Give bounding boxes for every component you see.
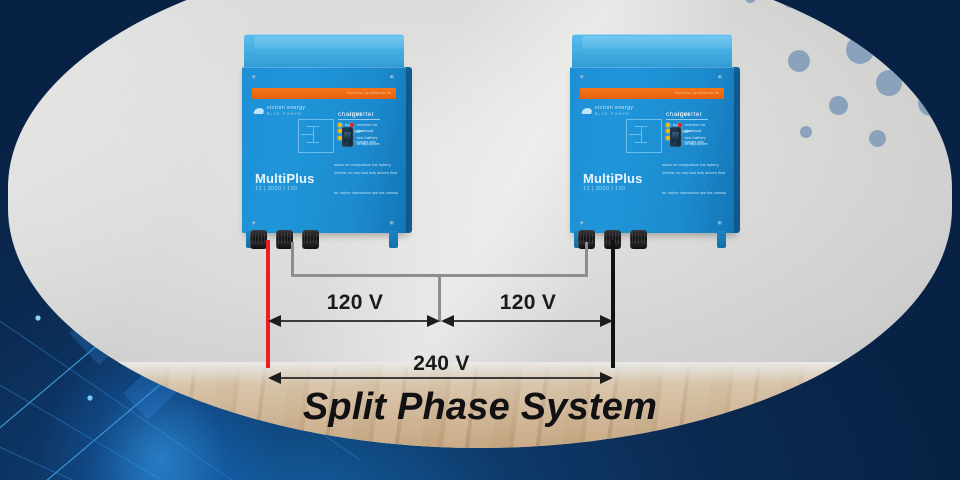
- screw-icon: [718, 75, 722, 79]
- page-title: Split Phase System: [0, 386, 960, 429]
- inverter-right-brand: victron energy BLUE POWER: [582, 105, 633, 116]
- arrow-line-right-leg: [450, 320, 605, 322]
- arrow-head-left: [268, 372, 281, 384]
- circle-pattern-decoration: [722, 0, 952, 163]
- inverter-right-model-sub: 12 | 3000 | 120: [583, 186, 626, 192]
- arrow-head-left: [268, 315, 281, 327]
- screw-icon: [252, 75, 256, 79]
- inverter-title: inverter: [678, 111, 708, 120]
- inverter-right-foot: [717, 231, 726, 248]
- cable-gland-line: [250, 230, 267, 249]
- wiring-schematic-icon: [626, 119, 662, 153]
- inverter-right-mode-switch[interactable]: [670, 127, 681, 147]
- panel-footer-row-1: mains on temperature low battery: [334, 163, 391, 167]
- led-inverter-on-label: inverter on: [357, 123, 377, 127]
- led-bulk-icon: [666, 123, 670, 127]
- diagram-canvas: MultiPlus 12/3000/120-50 victron energy …: [0, 0, 960, 480]
- led-inverter-on-label: inverter on: [685, 123, 705, 127]
- panel-footer-row-3: for further information see the manual: [334, 191, 398, 195]
- inverter-title: inverter: [350, 111, 380, 120]
- inverter-right-orange-strip: MultiPlus 12/3000/120-50: [580, 88, 724, 99]
- measure-label-right-leg: 120 V: [441, 291, 615, 315]
- inverter-right-strip-text: MultiPlus 12/3000/120-50: [675, 91, 719, 95]
- inverter-left[interactable]: MultiPlus 12/3000/120-50 victron energy …: [238, 34, 410, 249]
- inverter-right-brand-name: victron energy: [595, 105, 633, 111]
- inverter-left-model-sub: 12 | 3000 | 120: [255, 186, 298, 192]
- inverter-left-brand: victron energy BLUE POWER: [254, 105, 305, 116]
- switch-charger-only-label: charger only: [684, 140, 704, 144]
- cable-gland-ground: [630, 230, 647, 249]
- led-bulk-icon: [338, 123, 342, 127]
- inverter-left-brand-sub: BLUE POWER: [267, 112, 305, 117]
- inverter-left-strip-text: MultiPlus 12/3000/120-50: [347, 91, 391, 95]
- led-inverter-on-icon: [350, 123, 354, 127]
- panel-footer-row-2: inverter on overload bulk absorb float: [334, 171, 397, 175]
- measure-label-total: 240 V: [268, 352, 615, 376]
- inverter-left-body: MultiPlus 12/3000/120-50 victron energy …: [242, 67, 406, 233]
- inverter-left-lid: [244, 34, 404, 70]
- screw-icon: [252, 221, 256, 225]
- inverter-left-foot: [389, 231, 398, 248]
- switch-charger-only-label: charger only: [356, 140, 376, 144]
- switch-on-label: on: [356, 130, 360, 134]
- measure-label-left-leg: 120 V: [268, 291, 442, 315]
- inverter-left-model: MultiPlus: [255, 171, 315, 186]
- arrow-line-left-leg: [277, 320, 433, 322]
- arrow-head-right: [600, 315, 613, 327]
- arrow-line-total: [277, 377, 606, 379]
- inverter-right-brand-sub: BLUE POWER: [595, 112, 633, 117]
- panel-footer-row-3: for further information see the manual: [662, 191, 726, 195]
- inverter-right-model: MultiPlus: [583, 171, 643, 186]
- switch-on-label: on: [684, 130, 688, 134]
- wire-neutral-left-drop: [291, 242, 294, 276]
- screw-icon: [390, 221, 394, 225]
- wire-neutral-right-drop: [585, 242, 588, 276]
- inverter-left-mode-switch[interactable]: [342, 127, 353, 147]
- inverter-right-lid: [572, 34, 732, 70]
- screw-icon: [580, 75, 584, 79]
- screw-icon: [580, 221, 584, 225]
- screw-icon: [718, 221, 722, 225]
- arrow-head-left: [441, 315, 454, 327]
- panel-footer-row-1: mains on temperature low battery: [662, 163, 719, 167]
- arrow-head-right: [600, 372, 613, 384]
- panel-footer-row-2: inverter on overload bulk absorb float: [662, 171, 725, 175]
- victron-logo-icon: [581, 108, 592, 114]
- inverter-left-brand-name: victron energy: [267, 105, 305, 111]
- inverter-left-orange-strip: MultiPlus 12/3000/120-50: [252, 88, 396, 99]
- wiring-schematic-icon: [298, 119, 334, 153]
- arrow-head-right: [427, 315, 440, 327]
- inverter-right-body: MultiPlus 12/3000/120-50 victron energy …: [570, 67, 734, 233]
- victron-logo-icon: [253, 108, 264, 114]
- screw-icon: [390, 75, 394, 79]
- inverter-right[interactable]: MultiPlus 12/3000/120-50 victron energy …: [566, 34, 738, 249]
- photo-panel: [8, 0, 952, 448]
- cable-gland-ground: [302, 230, 319, 249]
- led-inverter-on-icon: [678, 123, 682, 127]
